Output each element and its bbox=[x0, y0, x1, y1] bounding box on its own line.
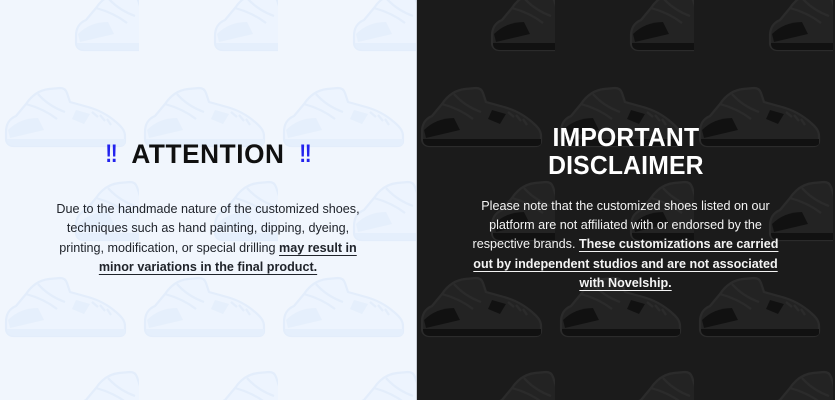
attention-title: ATTENTION bbox=[131, 141, 284, 168]
disclaimer-title-line-2: DISCLAIMER bbox=[548, 150, 704, 180]
attention-panel: !! ATTENTION !! Due to the handmade natu… bbox=[0, 0, 416, 400]
attention-heading: !! ATTENTION !! bbox=[104, 123, 311, 186]
disclaimer-body: Please note that the customized shoes li… bbox=[470, 197, 782, 293]
disclaimer-content: IMPORTANT DISCLAIMER Please note that th… bbox=[416, 0, 835, 400]
panel-divider bbox=[416, 0, 417, 400]
exclamation-icon-left: !! bbox=[106, 142, 117, 167]
disclaimer-title-line-1: IMPORTANT bbox=[552, 122, 699, 152]
attention-body: Due to the handmade nature of the custom… bbox=[56, 200, 361, 277]
attention-content: !! ATTENTION !! Due to the handmade natu… bbox=[0, 0, 416, 400]
disclaimer-panel: IMPORTANT DISCLAIMER Please note that th… bbox=[416, 0, 835, 400]
disclaimer-title: IMPORTANT DISCLAIMER bbox=[548, 124, 704, 180]
exclamation-icon-right: !! bbox=[299, 142, 310, 167]
disclaimer-banner: !! ATTENTION !! Due to the handmade natu… bbox=[0, 0, 835, 400]
